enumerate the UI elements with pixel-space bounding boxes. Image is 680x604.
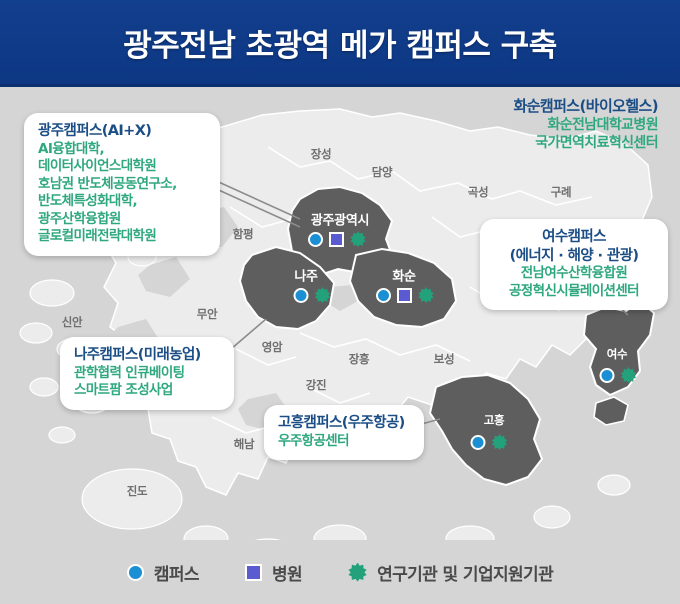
marker-group-여수 — [600, 367, 637, 383]
marker-group-광주광역시 — [308, 231, 366, 247]
callout-hwasun-line-1: 화순전남대학교병원 — [368, 116, 658, 134]
region-label-장성: 장성 — [311, 146, 332, 162]
region-goheung — [430, 375, 542, 485]
region-label-강진: 강진 — [306, 377, 327, 393]
region-label-장흥: 장흥 — [349, 351, 370, 367]
research-star-icon — [350, 231, 366, 247]
legend-label-2: 연구기관 및 기업지원기관 — [377, 560, 553, 585]
page-title: 광주전남 초광역 메가 캠퍼스 구축 — [0, 0, 680, 84]
region-label-곡성: 곡성 — [468, 184, 489, 200]
callout-yeosu-title: 여수캠퍼스 — [494, 228, 654, 247]
campus-circle-icon — [294, 288, 309, 303]
callout-naju-line-2: 스마트팜 조성사업 — [74, 382, 220, 400]
callout-gwangju-line-6: 글로컬미래전략대학원 — [38, 228, 206, 246]
marker-group-화순 — [376, 287, 434, 303]
marker-group-고흥 — [471, 434, 508, 450]
callout-gwangju-title: 광주캠퍼스(AI+X) — [38, 122, 206, 141]
marker-group-나주 — [294, 287, 331, 303]
research-star-icon — [492, 434, 508, 450]
region-label-함평: 함평 — [233, 226, 254, 242]
research-star-icon — [315, 287, 331, 303]
region-label-신안: 신안 — [62, 314, 83, 330]
campus-circle-icon — [376, 288, 391, 303]
callout-goheung-line-1: 우주항공센터 — [278, 433, 410, 451]
legend-label-0: 캠퍼스 — [154, 560, 199, 585]
callout-gwangju-line-4: 반도체특성화대학, — [38, 193, 206, 211]
research-star-icon — [621, 367, 637, 383]
region-label-광주광역시: 광주광역시 — [311, 210, 369, 229]
legend-label-1: 병원 — [272, 560, 302, 585]
campus-circle-icon — [127, 564, 144, 581]
hospital-square-icon — [245, 564, 262, 581]
callout-hwasun-campus[interactable]: 화순캠퍼스(바이오헬스) 화순전남대학교병원 국가면역치료혁신센터 — [368, 97, 658, 153]
callout-goheung-campus[interactable]: 고흥캠퍼스(우주항공) 우주항공센터 — [264, 405, 424, 460]
region-yeosu-island — [594, 397, 628, 425]
callout-hwasun-title: 화순캠퍼스(바이오헬스) — [368, 97, 658, 116]
infographic-page: 광주전남 초광역 메가 캠퍼스 구축 — [0, 0, 680, 604]
callout-naju-campus[interactable]: 나주캠퍼스(미래농업) 관학협력 인큐베이팅 스마트팜 조성사업 — [60, 337, 234, 410]
region-label-고흥: 고흥 — [484, 412, 505, 428]
callout-naju-line-1: 관학협력 인큐베이팅 — [74, 365, 220, 383]
campus-circle-icon — [308, 232, 323, 247]
hospital-square-icon — [397, 288, 412, 303]
legend-item-0: 캠퍼스 — [127, 560, 199, 585]
legend-item-2: 연구기관 및 기업지원기관 — [348, 560, 553, 585]
research-star-icon — [348, 563, 367, 582]
callout-hwasun-line-2: 국가면역치료혁신센터 — [368, 134, 658, 152]
callout-yeosu-line-2: 공정혁신시뮬레이션센터 — [494, 283, 654, 301]
hospital-square-icon — [329, 232, 344, 247]
region-label-나주: 나주 — [294, 266, 317, 285]
research-star-icon — [418, 287, 434, 303]
region-label-여수: 여수 — [607, 346, 628, 362]
region-label-구례: 구례 — [551, 184, 572, 200]
map-stage: 장성담양곡성구례함평광주광역시나주화순무안신안영암장흥보성강진해남진도여수고흥 … — [0, 87, 680, 604]
map-legend: 캠퍼스병원연구기관 및 기업지원기관 — [0, 540, 680, 604]
callout-goheung-title: 고흥캠퍼스(우주항공) — [278, 414, 410, 433]
region-label-무안: 무안 — [197, 306, 218, 322]
region-label-진도: 진도 — [127, 483, 148, 499]
callout-gwangju-line-3: 호남권 반도체공동연구소, — [38, 176, 206, 194]
callout-gwangju-line-2: 데이터사이언스대학원 — [38, 158, 206, 176]
region-label-화순: 화순 — [392, 266, 415, 285]
region-label-해남: 해남 — [234, 436, 255, 452]
callout-gwangju-campus[interactable]: 광주캠퍼스(AI+X) AI융합대학, 데이터사이언스대학원 호남권 반도체공동… — [24, 113, 220, 256]
callout-yeosu-campus[interactable]: 여수캠퍼스 (에너지 · 해양 · 관광) 전남여수산학융합원 공정혁신시뮬레이… — [480, 219, 668, 310]
callout-yeosu-subtitle: (에너지 · 해양 · 관광) — [494, 247, 654, 266]
callout-gwangju-line-1: AI융합대학, — [38, 141, 206, 159]
callout-yeosu-line-1: 전남여수산학융합원 — [494, 265, 654, 283]
region-label-영암: 영암 — [262, 339, 283, 355]
region-label-담양: 담양 — [372, 164, 393, 180]
region-label-보성: 보성 — [434, 351, 455, 367]
campus-circle-icon — [600, 368, 615, 383]
campus-circle-icon — [471, 435, 486, 450]
callout-gwangju-line-5: 광주산학융합원 — [38, 211, 206, 229]
callout-naju-title: 나주캠퍼스(미래농업) — [74, 346, 220, 365]
legend-item-1: 병원 — [245, 560, 302, 585]
